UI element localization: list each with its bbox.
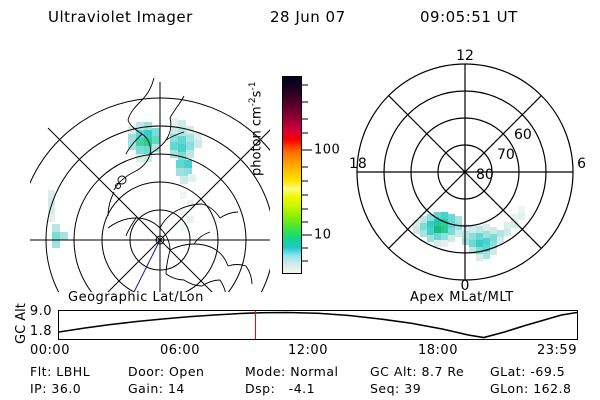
colorbar-ticks — [302, 76, 332, 274]
mlt-label-12: 12 — [456, 48, 474, 64]
seq-row: Seq: 39 — [370, 381, 421, 396]
colorbar-title-prefix: photon cm — [249, 106, 264, 176]
mlt-label-18: 18 — [349, 156, 367, 172]
orbit-altitude-strip — [58, 310, 578, 340]
instrument-title: Ultraviolet Imager — [48, 8, 193, 26]
colorbar-tick-100: 100 — [314, 143, 340, 158]
time-tick-0600: 06:00 — [160, 343, 200, 358]
filter-value: LBHL — [56, 364, 90, 379]
time-tick-1200: 12:00 — [288, 343, 328, 358]
colorbar — [282, 76, 302, 274]
colorbar-title-mid: s — [249, 91, 264, 98]
glat-row: GLat: -69.5 — [490, 364, 565, 379]
gcalt-value: 8.7 Re — [422, 364, 465, 379]
gain-label: Gain: — [128, 381, 163, 396]
mode-label: Mode: — [245, 364, 286, 379]
geographic-plot-caption: Geographic Lat/Lon — [68, 290, 204, 305]
gcalt-row: GC Alt: 8.7 Re — [370, 364, 464, 379]
status-panel: Flt: LBHL IP: 36.0 Door: Open Gain: 14 M… — [0, 364, 600, 400]
mlat-label-60: 60 — [514, 127, 532, 143]
apex-mlt-plot: 12 18 6 0 60 70 80 — [345, 42, 590, 292]
door-value: Open — [169, 364, 204, 379]
colorbar-exp-2: -1 — [248, 82, 258, 91]
colorbar-axis-title: photon cm-2s-1 — [248, 82, 264, 176]
mlat-label-70: 70 — [497, 147, 515, 163]
ip-value: 36.0 — [51, 381, 81, 396]
geographic-polar-plot — [30, 42, 270, 292]
dsp-label: Dsp: — [245, 381, 275, 396]
mode-row: Mode: Normal — [245, 364, 339, 379]
filter-row: Flt: LBHL — [30, 364, 90, 379]
dsp-value: -4.1 — [289, 381, 315, 396]
seq-value: 39 — [404, 381, 421, 396]
mlt-label-6: 6 — [577, 156, 586, 172]
door-row: Door: Open — [128, 364, 204, 379]
glon-label: GLon: — [490, 381, 529, 396]
gcalt-label: GC Alt: — [370, 364, 417, 379]
colorbar-tick-10: 10 — [314, 228, 332, 243]
time-cursor — [255, 311, 256, 339]
observation-date: 28 Jun 07 — [270, 8, 346, 26]
time-tick-2359: 23:59 — [537, 343, 577, 358]
glat-value: -69.5 — [530, 364, 565, 379]
mode-value: Normal — [290, 364, 338, 379]
mlat-label-80: 80 — [476, 167, 494, 183]
observation-time: 09:05:51 UT — [420, 8, 518, 26]
glon-value: 162.8 — [533, 381, 571, 396]
altitude-axis-label: GC Alt — [14, 303, 29, 344]
uvi-display: Ultraviolet Imager 28 Jun 07 09:05:51 UT — [0, 0, 600, 400]
gain-value: 14 — [168, 381, 185, 396]
time-tick-0000: 00:00 — [30, 343, 70, 358]
filter-label: Flt: — [30, 364, 52, 379]
colorbar-exp-1: -2 — [248, 97, 258, 106]
ip-row: IP: 36.0 — [30, 381, 81, 396]
apex-plot-caption: Apex MLat/MLT — [410, 290, 514, 305]
time-tick-1800: 18:00 — [418, 343, 458, 358]
dsp-row: Dsp: -4.1 — [245, 381, 315, 396]
glat-label: GLat: — [490, 364, 526, 379]
glon-row: GLon: 162.8 — [490, 381, 572, 396]
seq-label: Seq: — [370, 381, 400, 396]
ip-label: IP: — [30, 381, 47, 396]
altitude-trace — [59, 311, 577, 339]
gain-row: Gain: 14 — [128, 381, 185, 396]
door-label: Door: — [128, 364, 165, 379]
mlt-dial-grid — [357, 64, 573, 280]
colorbar-gradient — [283, 77, 301, 273]
